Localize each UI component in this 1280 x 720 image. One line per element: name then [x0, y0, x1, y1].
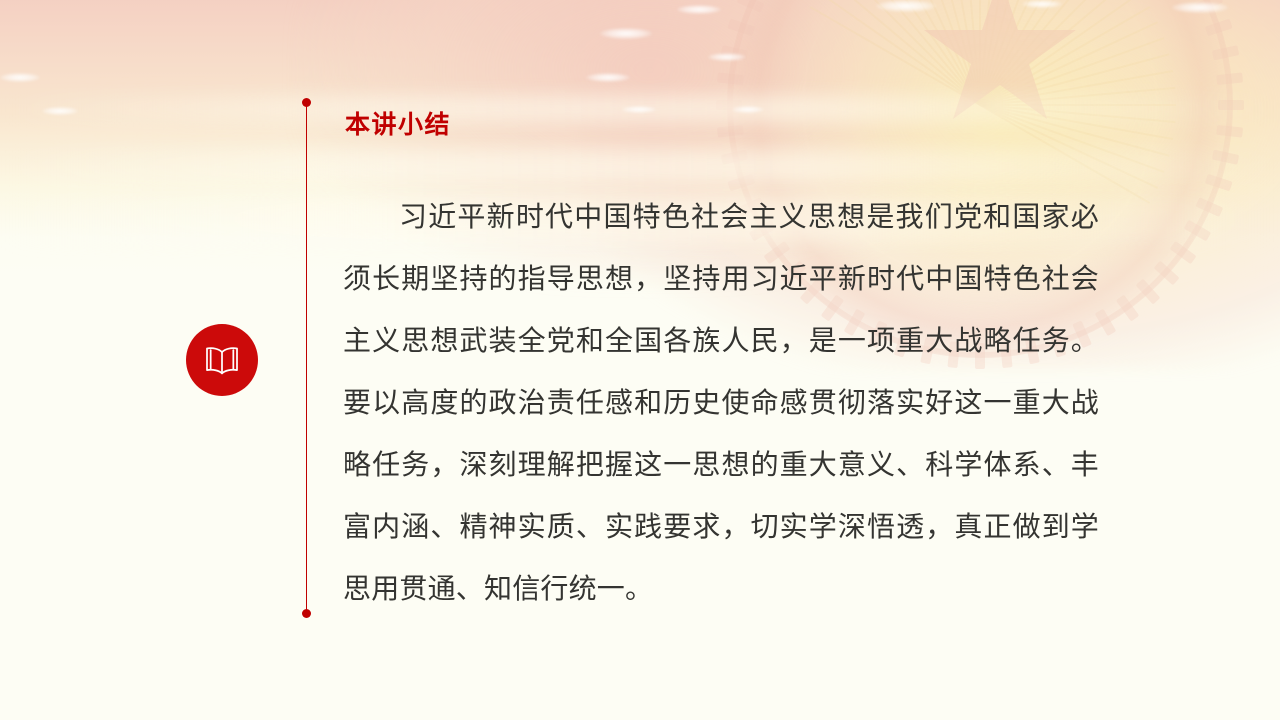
sparkle — [622, 106, 656, 113]
timeline-dot-bottom — [302, 609, 311, 618]
timeline-rail — [302, 98, 311, 618]
sparkle — [1172, 2, 1228, 13]
sparkle — [708, 53, 746, 61]
sparkle — [600, 28, 652, 39]
timeline-line — [306, 103, 307, 615]
page-title: 本讲小结 — [345, 113, 451, 138]
sparkle — [42, 107, 78, 115]
sparkle — [1022, 0, 1062, 8]
book-badge — [186, 324, 258, 396]
summary-paragraph: 习近平新时代中国特色社会主义思想是我们党和国家必须长期坚持的指导思想，坚持用习近… — [343, 186, 1099, 620]
background-band — [0, 150, 1280, 184]
sparkle — [586, 73, 630, 82]
slide-canvas: 本讲小结 习近平新时代中国特色社会主义思想是我们党和国家必须长期坚持的指导思想，… — [0, 0, 1280, 720]
timeline-dot-top — [302, 98, 311, 107]
sparkle — [0, 73, 40, 82]
open-book-icon — [202, 344, 242, 376]
sparkle — [677, 5, 721, 14]
sparkle — [876, 0, 936, 12]
sparkle — [732, 106, 764, 113]
